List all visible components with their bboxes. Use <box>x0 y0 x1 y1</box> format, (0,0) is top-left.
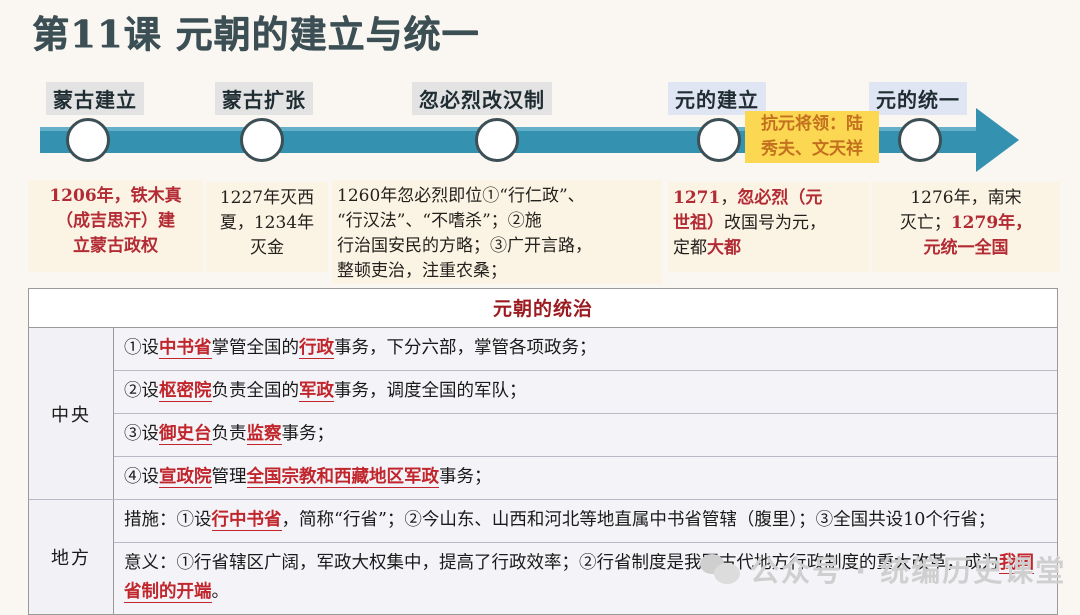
fact-text-run: 大都 <box>707 238 741 258</box>
table-text-run: 负责全国的 <box>212 381 300 401</box>
timeline-node-0[interactable] <box>66 118 110 162</box>
fact-text-run: “行汉法”、“不嗜杀”；②施 <box>337 211 542 231</box>
table-text-run: ④设 <box>124 467 159 487</box>
table-cell: 意义：①行省辖区广阔，军政大权集中，提高了行政效率；②行省制度是我国古代地方行政… <box>114 543 1057 614</box>
timeline-node-1[interactable] <box>240 118 284 162</box>
fact-text-run: 定都 <box>673 238 707 258</box>
fact-text-run: 行治国安民的方略；③广开言路， <box>337 236 592 256</box>
fact-line: “行汉法”、“不嗜杀”；②施 <box>337 209 657 234</box>
table-cell-group: 措施：①设行中书省，简称“行省”；②今山东、山西和河北等地直属中书省管辖（腹里）… <box>114 500 1057 614</box>
table-keyword: 枢密院 <box>159 381 212 402</box>
table-keyword: 监察 <box>247 424 282 445</box>
fact-line: 夏，1234年 <box>211 211 323 236</box>
fact-box-unification: 1276年，南宋灭亡；1279年，元统一全国 <box>872 182 1060 272</box>
fact-line: 世祖）改国号为元， <box>673 211 865 236</box>
fact-text-run: 1227年灭西 <box>220 188 314 208</box>
table-body: 中央①设中书省掌管全国的行政事务，下分六部，掌管各项政务；②设枢密院负责全国的军… <box>29 328 1057 614</box>
table-text-run: ，简称“行省”；②今山东、山西和河北等地直属中书省管辖（腹里）；③全国共设10个… <box>282 510 996 530</box>
fact-text-run: 夏，1234年 <box>220 213 314 233</box>
table-row: 中央①设中书省掌管全国的行政事务，下分六部，掌管各项政务；②设枢密院负责全国的军… <box>29 328 1057 499</box>
governance-table: 元朝的统治 中央①设中书省掌管全国的行政事务，下分六部，掌管各项政务；②设枢密院… <box>28 288 1058 615</box>
table-text-run: 。 <box>212 582 230 602</box>
fact-line: 1276年，南宋 <box>877 186 1055 211</box>
fact-box-kublai-reforms: 1260年忽必烈即位①“行仁政”、“行汉法”、“不嗜杀”；②施行治国安民的方略；… <box>332 180 662 284</box>
table-keyword: 御史台 <box>159 424 212 445</box>
fact-text-run: ， <box>720 188 737 208</box>
slide-canvas: 第11课 元朝的建立与统一 蒙古建立 蒙古扩张 忽必烈改汉制 元的建立 元的统一… <box>0 0 1080 608</box>
fact-line: 灭亡；1279年， <box>877 211 1055 236</box>
timeline-node-3[interactable] <box>697 118 741 162</box>
table-text-run: ②设 <box>124 381 159 401</box>
timeline-label-2: 忽必烈改汉制 <box>412 82 552 115</box>
table-text-run: 措施：①设 <box>124 510 212 530</box>
table-cell: ③设御史台负责监察事务； <box>114 414 1057 457</box>
table-text-run: 掌管全国的 <box>212 338 300 358</box>
table-cell: ④设宣政院管理全国宗教和西藏地区军政事务； <box>114 457 1057 499</box>
table-cell: 措施：①设行中书省，简称“行省”；②今山东、山西和河北等地直属中书省管辖（腹里）… <box>114 500 1057 543</box>
timeline-node-4[interactable] <box>898 118 942 162</box>
table-text-run: 事务，调度全国的军队； <box>334 381 527 401</box>
fact-line: 立蒙古政权 <box>33 234 198 259</box>
table-row-label: 中央 <box>29 328 114 499</box>
fact-line: 1206年，铁木真 <box>33 184 198 209</box>
table-keyword: 军政 <box>299 381 334 402</box>
fact-text-run: 1206年，铁木真 <box>49 186 181 206</box>
timeline-callout: 抗元将领：陆 秀夫、文天祥 <box>745 111 879 163</box>
fact-text-run: 1276年，南宋 <box>910 188 1021 208</box>
fact-text-run: 灭亡； <box>900 213 951 233</box>
fact-line: 灭金 <box>211 236 323 261</box>
fact-text-run: 1279年， <box>951 213 1032 233</box>
table-text-run: 管理 <box>212 467 247 487</box>
fact-box-yuan-founding: 1271，忽必烈（元世祖）改国号为元，定都大都 <box>668 182 870 272</box>
fact-text-run: （成吉思汗）建 <box>56 211 175 231</box>
fact-text-run: 改国号为元， <box>724 213 826 233</box>
timeline-arrow-icon <box>976 108 1019 172</box>
fact-text-run: 1260年忽必烈即位①“行仁政”、 <box>337 186 585 206</box>
fact-line: 定都大都 <box>673 236 865 261</box>
fact-text-run: 忽必烈（元 <box>737 188 822 208</box>
fact-line: 1260年忽必烈即位①“行仁政”、 <box>337 184 657 209</box>
fact-line: （成吉思汗）建 <box>33 209 198 234</box>
table-text-run: 负责 <box>212 424 247 444</box>
table-cell: ②设枢密院负责全国的军政事务，调度全国的军队； <box>114 371 1057 414</box>
table-header-title: 元朝的统治 <box>29 289 1057 328</box>
table-text-run: 事务； <box>282 424 335 444</box>
table-keyword: 全国宗教和西藏地区军政 <box>247 467 440 488</box>
timeline-callout-line-2: 秀夫、文天祥 <box>747 137 877 162</box>
page-title: 第11课 元朝的建立与统一 <box>32 4 479 58</box>
table-text-run: ③设 <box>124 424 159 444</box>
table-text-run: ①设 <box>124 338 159 358</box>
table-cell-group: ①设中书省掌管全国的行政事务，下分六部，掌管各项政务；②设枢密院负责全国的军政事… <box>114 328 1057 499</box>
fact-line: 1271，忽必烈（元 <box>673 186 865 211</box>
fact-text-run: 元统一全国 <box>924 238 1009 258</box>
table-keyword: 行中书省 <box>212 510 282 531</box>
table-keyword: 中书省 <box>159 338 212 359</box>
timeline-node-2[interactable] <box>475 118 519 162</box>
timeline-label-1: 蒙古扩张 <box>215 82 313 115</box>
fact-text-run: 世祖） <box>673 213 724 233</box>
fact-box-mongol-founding: 1206年，铁木真（成吉思汗）建立蒙古政权 <box>28 180 203 272</box>
fact-text-run: 1271 <box>673 188 720 208</box>
table-text-run: 事务； <box>439 467 492 487</box>
table-text-run: 事务，下分六部，掌管各项政务； <box>334 338 597 358</box>
fact-text-run: 立蒙古政权 <box>73 236 158 256</box>
table-keyword: 宣政院 <box>159 467 212 488</box>
timeline-callout-line-1: 抗元将领：陆 <box>747 112 877 137</box>
fact-text-run: 灭金 <box>250 238 284 258</box>
table-row-label: 地方 <box>29 500 114 614</box>
fact-line: 1227年灭西 <box>211 186 323 211</box>
timeline-label-0: 蒙古建立 <box>46 82 144 115</box>
timeline-label-4: 元的统一 <box>869 82 967 115</box>
fact-line: 元统一全国 <box>877 236 1055 261</box>
fact-box-conquests: 1227年灭西夏，1234年灭金 <box>206 182 328 272</box>
table-cell: ①设中书省掌管全国的行政事务，下分六部，掌管各项政务； <box>114 328 1057 371</box>
table-text-run: 意义：①行省辖区广阔，军政大权集中，提高了行政效率；②行省制度是我国古代地方行政… <box>124 553 999 573</box>
fact-line: 行治国安民的方略；③广开言路， <box>337 234 657 259</box>
fact-line: 整顿吏治，注重农桑； <box>337 259 657 284</box>
table-keyword: 行政 <box>299 338 334 359</box>
fact-text-run: 整顿吏治，注重农桑； <box>337 261 507 281</box>
table-row: 地方措施：①设行中书省，简称“行省”；②今山东、山西和河北等地直属中书省管辖（腹… <box>29 499 1057 614</box>
